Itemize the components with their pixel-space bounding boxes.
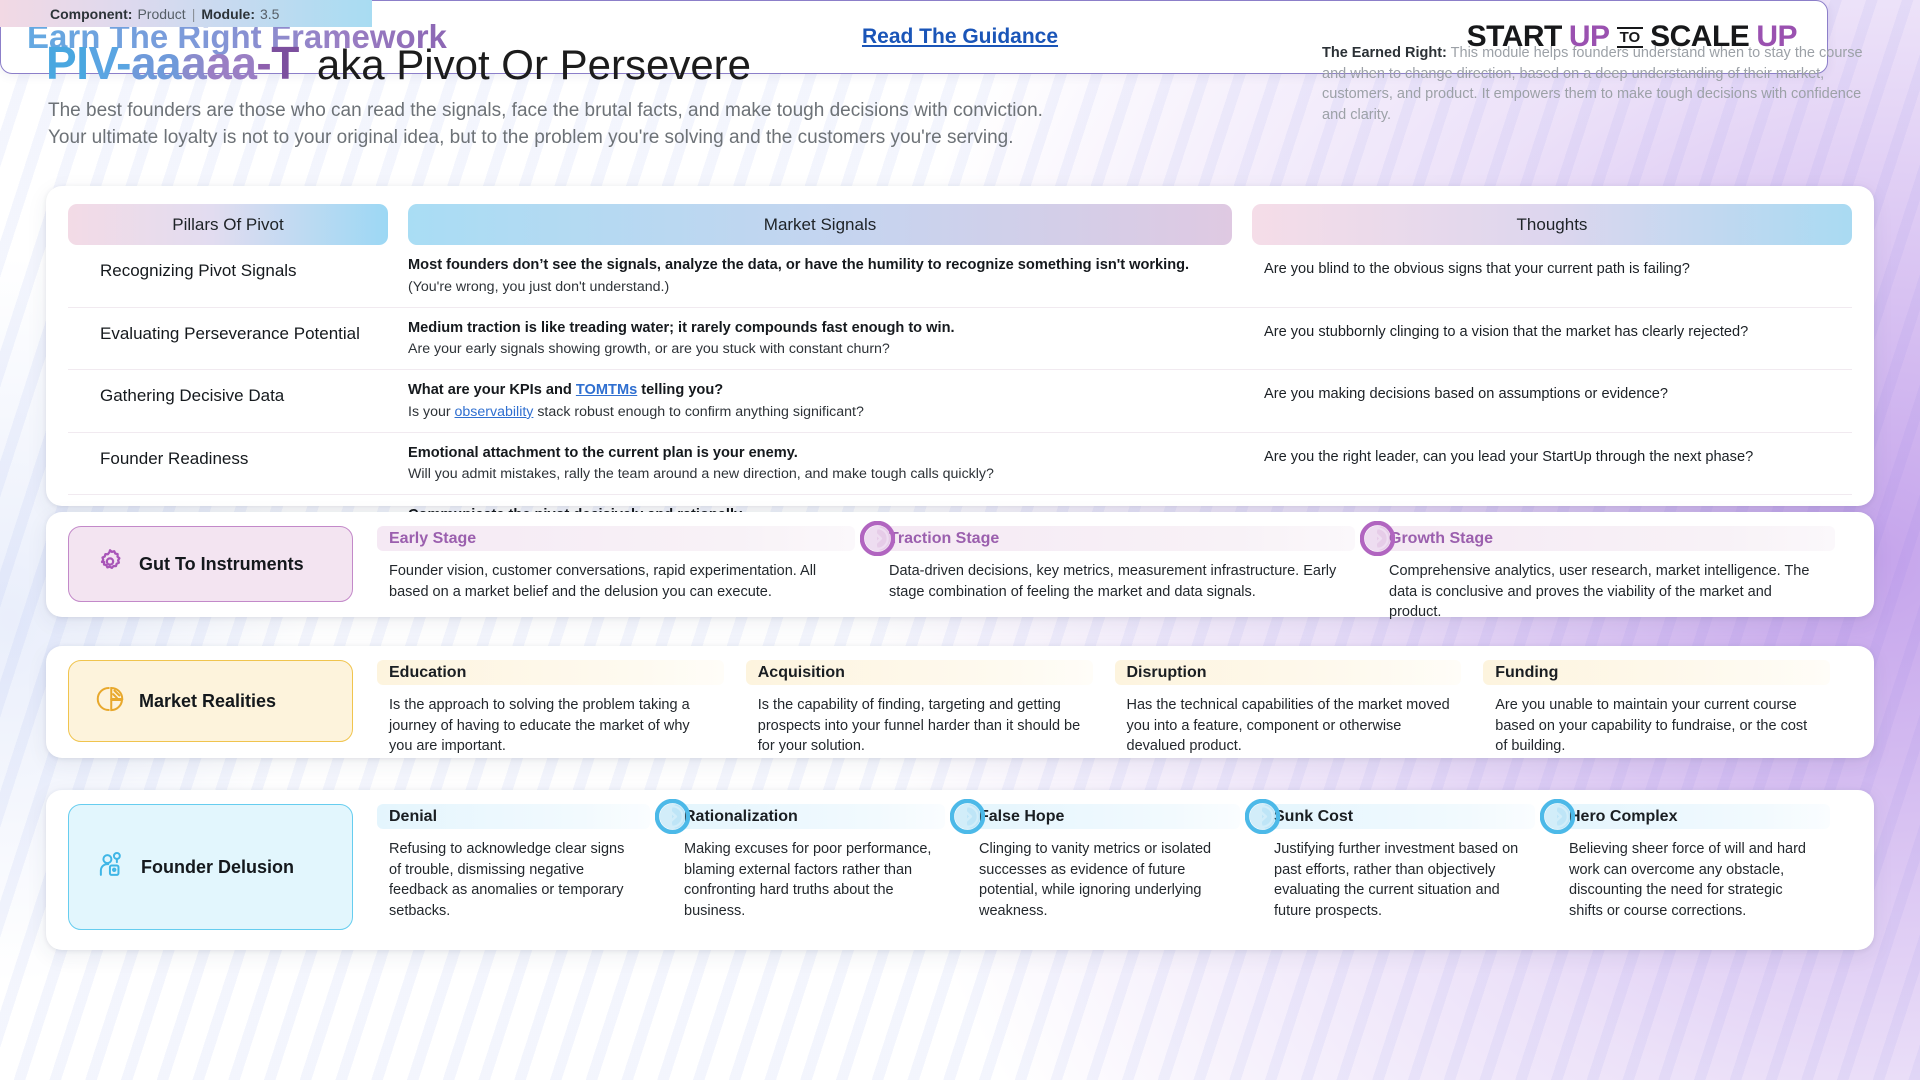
row-pillar: Recognizing Pivot Signals [68, 256, 408, 281]
page-subtitle: The best founders are those who can read… [0, 98, 1230, 152]
reality-column: Acquisition Is the capability of finding… [746, 660, 1115, 757]
reality-body: Are you unable to maintain your current … [1483, 685, 1830, 757]
stage-title: Early Stage [377, 526, 855, 551]
row-pillar: Evaluating Perseverance Potential [68, 319, 408, 344]
reality-body: Has the technical capabilities of the ma… [1115, 685, 1462, 757]
signal-sub-post: stack robust enough to confirm anything … [533, 404, 863, 420]
delusion-body: Justifying further investment based on p… [1262, 829, 1535, 921]
chevron-right-circle-icon [1360, 521, 1395, 556]
delusion-column: Hero Complex Believing sheer force of wi… [1557, 804, 1852, 930]
pivot-matrix-card: Pillars Of Pivot Market Signals Thoughts… [46, 186, 1874, 506]
market-badge-label: Market Realities [139, 691, 276, 712]
table-row: Founder Readiness Emotional attachment t… [68, 433, 1852, 496]
gear-icon [95, 547, 125, 582]
row-signal-sub: Will you admit mistakes, rally the team … [408, 465, 1228, 485]
reality-title: Acquisition [746, 660, 1093, 685]
signal-sub-pre: Is your [408, 404, 455, 420]
matrix-header-signals: Market Signals [408, 204, 1232, 245]
delusion-title: False Hope [967, 804, 1240, 829]
row-signal-sub: (You're wrong, you just don't understand… [408, 278, 1228, 298]
delusion-title: Hero Complex [1557, 804, 1830, 829]
chevron-right-circle-icon [1245, 799, 1280, 834]
stage-column: Growth Stage Comprehensive analytics, us… [1377, 526, 1857, 623]
founder-delusion-badge[interactable]: Founder Delusion [68, 804, 353, 930]
gut-badge-label: Gut To Instruments [139, 554, 304, 575]
reality-body: Is the capability of finding, targeting … [746, 685, 1093, 757]
delusion-columns: Denial Refusing to acknowledge clear sig… [353, 804, 1852, 930]
chevron-right-circle-icon [860, 521, 895, 556]
delusion-badge-label: Founder Delusion [141, 857, 294, 878]
delusion-column: Denial Refusing to acknowledge clear sig… [377, 804, 672, 930]
chevron-right-circle-icon [1540, 799, 1575, 834]
observability-link[interactable]: observability [455, 404, 534, 420]
market-columns: Education Is the approach to solving the… [353, 660, 1852, 757]
row-thought: Are you blind to the obvious signs that … [1252, 256, 1852, 277]
module-label: Module: [201, 6, 255, 22]
row-signal-sub: Are your early signals showing growth, o… [408, 340, 1228, 360]
reality-title: Education [377, 660, 724, 685]
component-module-bar: Component: Product | Module: 3.5 [0, 0, 372, 27]
reality-title: Disruption [1115, 660, 1462, 685]
signal-bold-post: telling you? [637, 382, 723, 398]
delusion-title: Rationalization [672, 804, 945, 829]
row-thought: Are you stubbornly clinging to a vision … [1252, 319, 1852, 340]
gut-band: Gut To Instruments Early Stage Founder v… [68, 526, 1852, 623]
signal-bold-pre: What are your KPIs and [408, 382, 576, 398]
row-pillar: Gathering Decisive Data [68, 381, 408, 406]
stage-title: Traction Stage [877, 526, 1355, 551]
matrix-header-pillars: Pillars Of Pivot [68, 204, 388, 245]
stage-title: Growth Stage [1377, 526, 1835, 551]
row-signal-bold: What are your KPIs and TOMTMs telling yo… [408, 381, 1228, 401]
delusion-body: Believing sheer force of will and hard w… [1557, 829, 1830, 921]
delusion-title: Sunk Cost [1262, 804, 1535, 829]
delusion-column: Rationalization Making excuses for poor … [672, 804, 967, 930]
gut-columns: Early Stage Founder vision, customer con… [353, 526, 1857, 623]
delusion-body: Refusing to acknowledge clear signs of t… [377, 829, 650, 921]
component-label: Component: [50, 6, 132, 22]
component-value: Product [137, 6, 185, 22]
page-header: PIV-aaaaa-T aka Pivot Or Persevere The b… [0, 36, 1920, 152]
stage-column: Traction Stage Data-driven decisions, ke… [877, 526, 1377, 623]
stage-body: Founder vision, customer conversations, … [377, 551, 855, 602]
bar-separator: | [192, 6, 196, 22]
row-signal: Most founders don’t see the signals, ana… [408, 256, 1252, 298]
subtitle-line-2: Your ultimate loyalty is not to your ori… [48, 125, 1230, 152]
reality-body: Is the approach to solving the problem t… [377, 685, 724, 757]
page-title: aka Pivot Or Persevere [317, 41, 751, 89]
row-signal: Medium traction is like treading water; … [408, 319, 1252, 361]
subtitle-line-1: The best founders are those who can read… [48, 98, 1230, 125]
row-signal-bold: Medium traction is like treading water; … [408, 319, 1228, 339]
stage-body: Data-driven decisions, key metrics, meas… [877, 551, 1355, 602]
row-signal: What are your KPIs and TOMTMs telling yo… [408, 381, 1252, 423]
row-thought: Are you making decisions based on assump… [1252, 381, 1852, 402]
chevron-right-circle-icon [950, 799, 985, 834]
delusion-title: Denial [377, 804, 650, 829]
row-signal-bold: Emotional attachment to the current plan… [408, 444, 1228, 464]
delusion-column: Sunk Cost Justifying further investment … [1262, 804, 1557, 930]
reality-column: Disruption Has the technical capabilitie… [1115, 660, 1484, 757]
pie-chart-icon [95, 684, 125, 719]
founder-delusion-card: Founder Delusion Denial Refusing to ackn… [46, 790, 1874, 950]
delusion-band: Founder Delusion Denial Refusing to ackn… [68, 804, 1852, 930]
stage-column: Early Stage Founder vision, customer con… [377, 526, 877, 623]
market-realities-card: Market Realities Education Is the approa… [46, 646, 1874, 758]
gut-to-instruments-card: Gut To Instruments Early Stage Founder v… [46, 512, 1874, 617]
earned-right-block: The Earned Right: This module helps foun… [1322, 43, 1882, 125]
table-row: Gathering Decisive Data What are your KP… [68, 370, 1852, 433]
stage-body: Comprehensive analytics, user research, … [1377, 551, 1835, 623]
table-row: Recognizing Pivot Signals Most founders … [68, 245, 1852, 308]
matrix-header-row: Pillars Of Pivot Market Signals Thoughts [68, 204, 1852, 245]
chevron-right-circle-icon [655, 799, 690, 834]
row-signal-sub: Is your observability stack robust enoug… [408, 403, 1228, 423]
page-root: Component: Product | Module: 3.5 PIV-aaa… [0, 0, 1920, 1080]
reality-column: Funding Are you unable to maintain your … [1483, 660, 1852, 757]
delusion-column: False Hope Clinging to vanity metrics or… [967, 804, 1262, 930]
row-thought: Are you the right leader, can you lead y… [1252, 444, 1852, 465]
earned-right-label: The Earned Right: [1322, 45, 1447, 61]
gut-to-instruments-badge[interactable]: Gut To Instruments [68, 526, 353, 602]
market-band: Market Realities Education Is the approa… [68, 660, 1852, 757]
market-realities-badge[interactable]: Market Realities [68, 660, 353, 742]
founder-persona-icon [95, 849, 127, 886]
reality-column: Education Is the approach to solving the… [377, 660, 746, 757]
row-pillar: Founder Readiness [68, 444, 408, 469]
tomtms-link[interactable]: TOMTMs [576, 382, 637, 398]
delusion-body: Making excuses for poor performance, bla… [672, 829, 945, 921]
read-the-guidance-link[interactable]: Read The Guidance [862, 25, 1058, 49]
matrix-header-thoughts: Thoughts [1252, 204, 1852, 245]
table-row: Evaluating Perseverance Potential Medium… [68, 308, 1852, 371]
module-value: 3.5 [260, 6, 279, 22]
delusion-body: Clinging to vanity metrics or isolated s… [967, 829, 1240, 921]
row-signal-bold: Most founders don’t see the signals, ana… [408, 256, 1228, 276]
reality-title: Funding [1483, 660, 1830, 685]
module-code: PIV-aaaaa-T [46, 36, 299, 90]
row-signal: Emotional attachment to the current plan… [408, 444, 1252, 486]
